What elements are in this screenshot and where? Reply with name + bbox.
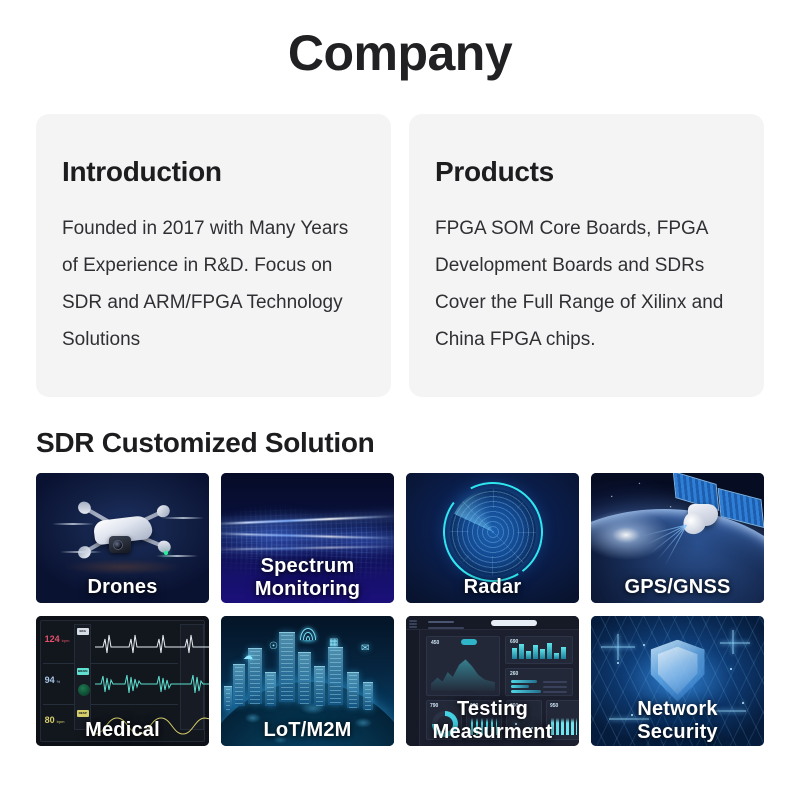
tile-label: LoT/M2M <box>221 719 394 742</box>
introduction-card-title: Introduction <box>62 156 365 188</box>
solution-tile-iot-m2m[interactable]: ☁ ☉ ▦ ✉ LoT/M2M <box>221 616 394 746</box>
company-page: Company Introduction Founded in 2017 wit… <box>0 0 800 800</box>
solution-tile-testing-measurement[interactable]: 450 690 260 <box>406 616 579 746</box>
tile-label: Medical <box>36 719 209 742</box>
tile-label: Network Security <box>591 698 764 744</box>
medical-readout-spo2: 94% <box>45 675 61 685</box>
products-card-title: Products <box>435 156 738 188</box>
medical-readout-hr: 124bpm <box>45 634 70 644</box>
solution-tile-spectrum-monitoring[interactable]: Spectrum Monitoring <box>221 473 394 603</box>
channel-chip-resp: RESP <box>77 710 89 717</box>
ecg-waveform <box>95 629 209 655</box>
channel-chip-brain: BRAIN <box>77 668 89 675</box>
solution-tile-medical[interactable]: 124bpm 94% 80bpm EKG BRAIN RESP <box>36 616 209 746</box>
tile-label: GPS/GNSS <box>591 576 764 599</box>
solution-tile-network-security[interactable]: Network Security <box>591 616 764 746</box>
tile-label: Testing Measurment <box>406 698 579 744</box>
tile-label: Drones <box>36 576 209 599</box>
cloud-icon: ☁ <box>243 652 253 662</box>
introduction-card: Introduction Founded in 2017 with Many Y… <box>36 114 391 397</box>
introduction-card-body: Founded in 2017 with Many Years of Exper… <box>62 210 365 358</box>
solution-tile-radar[interactable]: Radar <box>406 473 579 603</box>
channel-chip-ekg: EKG <box>77 628 89 635</box>
products-card: Products FPGA SOM Core Boards, FPGA Deve… <box>409 114 764 397</box>
sdr-solution-heading: SDR Customized Solution <box>36 427 764 459</box>
monitor-icon: ▦ <box>329 638 338 648</box>
tile-label: Spectrum Monitoring <box>221 555 394 601</box>
wifi-icon <box>299 626 317 640</box>
tile-label: Radar <box>406 576 579 599</box>
solution-tile-grid: Drones Spectrum Monitoring <box>36 473 764 746</box>
products-card-body: FPGA SOM Core Boards, FPGA Development B… <box>435 210 738 358</box>
page-title: Company <box>36 0 764 81</box>
mail-icon: ✉ <box>361 644 369 654</box>
solution-tile-gps-gnss[interactable]: GPS/GNSS <box>591 473 764 603</box>
info-cards-row: Introduction Founded in 2017 with Many Y… <box>36 114 764 397</box>
brain-waveform <box>95 671 209 697</box>
globe-icon: ☉ <box>269 642 278 652</box>
solution-tile-drones[interactable]: Drones <box>36 473 209 603</box>
